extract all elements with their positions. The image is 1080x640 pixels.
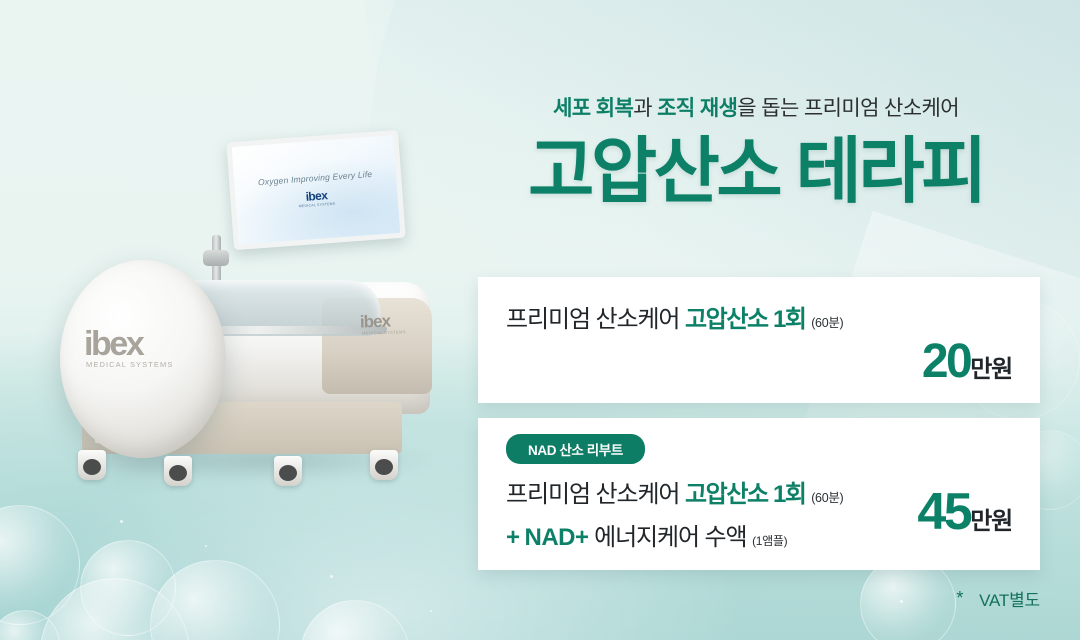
price-card-nad-note: (60분) xyxy=(811,491,843,505)
chamber-caster-wheel xyxy=(78,450,106,480)
chamber-caster-wheel xyxy=(370,450,398,480)
vat-note-asterisk: * xyxy=(956,588,963,609)
price-card-nad-addon-note: (1앰플) xyxy=(752,534,787,548)
sub-headline-plain-2: 을 돕는 프리미엄 산소케어 xyxy=(737,97,959,120)
product-monitor: Oxygen Improving Every Life ibex MEDICAL… xyxy=(226,130,405,250)
price-card-basic-price: 20 만원 xyxy=(922,334,1012,389)
sparkle-decoration xyxy=(430,610,432,612)
sparkle-decoration xyxy=(205,545,207,547)
price-card-basic-strong: 고압산소 1회 xyxy=(685,306,806,333)
monitor-tagline-text: Oxygen Improving Every Life xyxy=(258,169,373,187)
price-card-basic-note: (60분) xyxy=(811,316,843,330)
price-card-nad-content: NAD 산소 리부트 프리미엄 산소케어 고압산소 1회 (60분) + NAD… xyxy=(478,418,1040,570)
sparkle-decoration xyxy=(330,575,333,578)
headline-block: 세포 회복과 조직 재생을 돕는 프리미엄 산소케어 고압산소 테라피 xyxy=(466,92,1046,208)
price-card-basic-content: 프리미엄 산소케어 고압산소 1회 (60분) 20 만원 xyxy=(478,277,1040,403)
price-card-nad-badge: NAD 산소 리부트 xyxy=(506,434,645,464)
sub-headline-highlight-1: 세포 회복 xyxy=(553,97,633,120)
price-card-nad-strong: 고압산소 1회 xyxy=(685,481,806,508)
sparkle-decoration xyxy=(120,520,123,523)
sub-headline-plain-1: 과 xyxy=(633,97,652,120)
main-headline: 고압산소 테라피 xyxy=(466,136,1046,208)
chamber-caster-wheel xyxy=(164,456,192,486)
hyperbaric-chamber-product-image: Oxygen Improving Every Life ibex MEDICAL… xyxy=(22,130,462,510)
chamber-door-ibex-logo: ibex xyxy=(84,325,142,364)
chamber-caster-wheel xyxy=(274,456,302,486)
price-card-nad-addon-text: 에너지케어 수액 xyxy=(589,524,747,551)
price-card-basic-price-unit: 만원 xyxy=(970,349,1012,384)
promo-banner: Oxygen Improving Every Life ibex MEDICAL… xyxy=(0,0,1080,640)
vat-note-text: VAT별도 xyxy=(979,586,1040,611)
price-card-basic-price-number: 20 xyxy=(922,334,970,389)
sub-headline: 세포 회복과 조직 재생을 돕는 프리미엄 산소케어 xyxy=(466,92,1046,122)
chamber-door-ibex-logo-subtitle: MEDICAL SYSTEMS xyxy=(86,360,174,369)
vat-note: * VAT별도 xyxy=(956,586,1040,611)
sub-headline-highlight-2: 조직 재생 xyxy=(657,97,737,120)
price-card-nad[interactable]: NAD 산소 리부트 프리미엄 산소케어 고압산소 1회 (60분) + NAD… xyxy=(478,418,1040,570)
price-card-nad-prefix: 프리미엄 산소케어 xyxy=(506,481,685,508)
price-card-basic[interactable]: 프리미엄 산소케어 고압산소 1회 (60분) 20 만원 xyxy=(478,277,1040,403)
monitor-arm-joint xyxy=(203,250,229,266)
price-card-nad-price-number: 45 xyxy=(917,482,970,542)
sparkle-decoration xyxy=(900,600,903,603)
price-card-nad-price: 45 만원 xyxy=(917,482,1012,542)
price-card-nad-price-unit: 만원 xyxy=(970,501,1012,536)
price-card-basic-description: 프리미엄 산소케어 고압산소 1회 (60분) xyxy=(506,299,1012,334)
monitor-screen: Oxygen Improving Every Life ibex MEDICAL… xyxy=(232,135,401,245)
price-card-basic-prefix: 프리미엄 산소케어 xyxy=(506,306,685,333)
price-card-nad-plus-sign: + xyxy=(506,524,519,551)
price-card-nad-brand: NAD+ xyxy=(525,524,589,551)
